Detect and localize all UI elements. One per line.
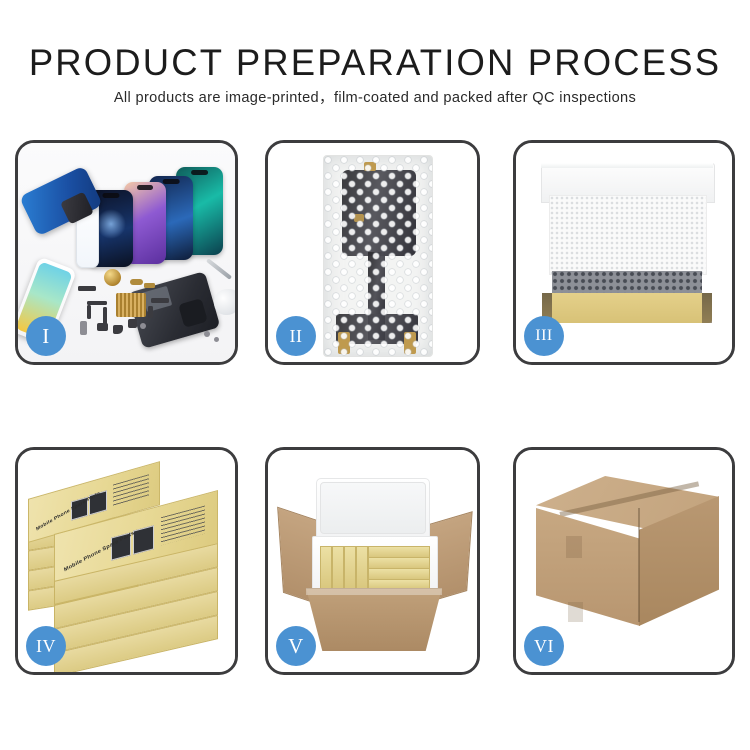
process-step-panel-2[interactable]: II [265,140,480,365]
step-badge-1: I [26,316,66,356]
step-badge-5: V [276,626,316,666]
process-step-panel-5[interactable]: V [265,447,480,675]
page-subtitle: All products are image-printed，film-coat… [0,88,750,108]
step-badge-3: III [524,316,564,356]
process-step-panel-3[interactable]: III [513,140,735,365]
step-badge-2: II [276,316,316,356]
page-title: PRODUCT PREPARATION PROCESS [6,41,745,85]
step-badge-4: IV [26,626,66,666]
page-header: PRODUCT PREPARATION PROCESS All products… [0,0,750,125]
process-step-panel-4[interactable]: Mobile Phone Spare Parts Mobile Phone Sp… [15,447,238,675]
process-step-panel-6[interactable]: VI [513,447,735,675]
step-badge-6: VI [524,626,564,666]
process-step-grid: I II [0,125,750,750]
process-step-panel-1[interactable]: I [15,140,238,365]
